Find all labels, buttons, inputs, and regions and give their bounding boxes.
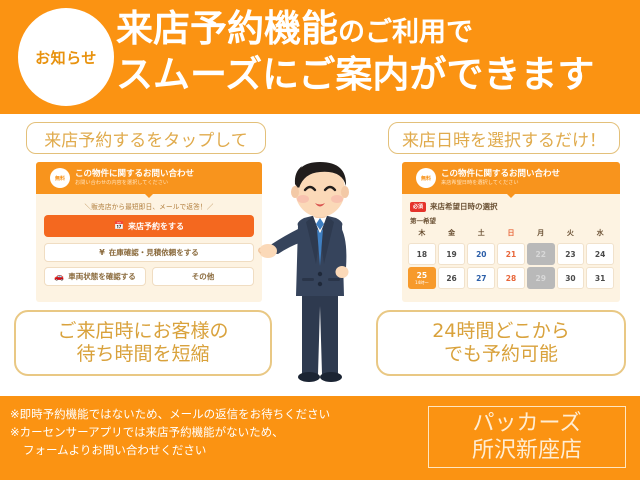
calendar-day-number: 29 (535, 274, 545, 283)
yen-icon: ¥ (99, 249, 105, 257)
benefit-right-line-1: 24時間どこから (432, 320, 570, 343)
calendar-day-cell[interactable]: 2514時〜 (408, 267, 436, 289)
left-callout-pill: 来店予約するをタップして (26, 122, 266, 154)
calendar-day-cell[interactable]: 26 (438, 267, 466, 289)
calendar-grid[interactable]: 木金土日月火水181920212223242514時〜262728293031 (402, 227, 620, 289)
speech-notch-icon (144, 193, 154, 198)
right-callout-pill: 来店日時を選択するだけ！ (388, 122, 620, 154)
left-callout-label: 来店予約するをタップして (44, 126, 248, 151)
calendar-day-time: 14時〜 (415, 281, 429, 286)
calendar-weekday-日: 日 (497, 227, 525, 241)
calendar-day-cell[interactable]: 20 (467, 243, 495, 265)
banner-footer: ※即時予約機能ではないため、メールの返信をお待ちください ※カーセンサーアプリで… (0, 396, 640, 480)
left-mock-title: この物件に関するお問い合わせ (75, 169, 194, 180)
disclaimer-line-2: ※カーセンサーアプリでは来店予約機能がないため、 (10, 424, 410, 442)
headline-line-2: スムーズにご案内ができます (116, 47, 636, 93)
calendar-day-cell: 29 (527, 267, 555, 289)
benefit-left-line-1: ご来店時にお客様の (57, 320, 228, 343)
calendar-day-number: 22 (535, 250, 545, 259)
calendar-icon: 📅 (114, 222, 124, 230)
calendar-day-cell[interactable]: 28 (497, 267, 525, 289)
calendar-day-number: 23 (565, 250, 575, 259)
banner-header: お知らせ 来店予約機能のご利用で スムーズにご案内ができます (0, 0, 640, 114)
shop-name-line-2: 所沢新座店 (472, 437, 582, 465)
disclaimer-line-1: ※即時予約機能ではないため、メールの返信をお待ちください (10, 406, 410, 424)
left-mock-subtitle: お問い合わせの内容を選択してください (75, 180, 194, 187)
calendar-day-number: 31 (595, 274, 605, 283)
notice-badge-label: お知らせ (35, 47, 97, 68)
calendar-day-cell[interactable]: 30 (557, 267, 585, 289)
calendar-day-number: 20 (476, 250, 486, 259)
calendar-day-number: 18 (417, 250, 427, 259)
left-mock-header: 無料 この物件に関するお問い合わせ お問い合わせの内容を選択してください (36, 162, 262, 194)
calendar-day-number: 21 (506, 250, 516, 259)
car-icon: 🚗 (54, 273, 64, 281)
calendar-weekday-火: 火 (557, 227, 585, 241)
other-label: その他 (192, 271, 215, 282)
calendar-day-cell[interactable]: 24 (586, 243, 614, 265)
right-mock-header: 無料 この物件に関するお問い合わせ 来店希望日時を選択してください (402, 162, 620, 194)
vehicle-condition-button[interactable]: 🚗 車両状態を確認する (44, 267, 146, 286)
speech-notch-icon (506, 193, 516, 198)
free-badge-label: 無料 (421, 175, 431, 182)
stock-quote-button[interactable]: ¥ 在庫確認・見積依頼をする (44, 243, 254, 262)
calendar-day-number: 19 (446, 250, 456, 259)
right-callout-label: 来店日時を選択するだけ！ (402, 126, 606, 151)
free-badge-icon: 無料 (50, 168, 70, 188)
calendar-day-number: 27 (476, 274, 486, 283)
calendar-weekday-金: 金 (438, 227, 466, 241)
benefit-box-left: ご来店時にお客様の 待ち時間を短縮 (14, 310, 272, 376)
shop-name-box: パッカーズ 所沢新座店 (428, 406, 626, 468)
stock-quote-label: 在庫確認・見積依頼をする (109, 247, 199, 258)
calendar-day-number: 30 (565, 274, 575, 283)
vehicle-condition-label: 車両状態を確認する (68, 271, 136, 282)
benefit-left-line-2: 待ち時間を短縮 (76, 343, 209, 366)
calendar-day-cell[interactable]: 23 (557, 243, 585, 265)
advertisement-banner: お知らせ 来店予約機能のご利用で スムーズにご案内ができます 来店予約するをタッ… (0, 0, 640, 480)
calendar-weekday-水: 水 (586, 227, 614, 241)
headline-emphasis: 来店予約機能 (116, 7, 338, 50)
headline-line-1: 来店予約機能のご利用で (116, 6, 636, 47)
calendar-day-cell[interactable]: 19 (438, 243, 466, 265)
left-app-mockup: 無料 この物件に関するお問い合わせ お問い合わせの内容を選択してください ＼販売… (36, 162, 262, 302)
banner-body: 来店予約するをタップして 来店日時を選択するだけ！ 無料 この物件に関するお問い… (0, 114, 640, 396)
calendar-day-cell[interactable]: 31 (586, 267, 614, 289)
right-app-mockup: 無料 この物件に関するお問い合わせ 来店希望日時を選択してください 必須 来店希… (402, 162, 620, 302)
calendar-day-cell[interactable]: 27 (467, 267, 495, 289)
other-button[interactable]: その他 (152, 267, 254, 286)
reserve-visit-button[interactable]: 📅 来店予約をする (44, 215, 254, 237)
calendar-weekday-土: 土 (467, 227, 495, 241)
disclaimer-line-3: フォームよりお問い合わせください (10, 442, 410, 460)
calendar-day-number: 26 (446, 274, 456, 283)
calendar-day-number: 28 (506, 274, 516, 283)
required-badge: 必須 (410, 202, 426, 212)
header-headline: 来店予約機能のご利用で スムーズにご案内ができます (116, 6, 636, 93)
calendar-day-cell[interactable]: 18 (408, 243, 436, 265)
calendar-choice-label: 第一希望 (402, 214, 620, 227)
benefit-right-line-2: でも予約可能 (444, 343, 558, 366)
disclaimer-text: ※即時予約機能ではないため、メールの返信をお待ちください ※カーセンサーアプリで… (10, 406, 410, 459)
reserve-visit-label: 来店予約をする (128, 221, 184, 232)
calendar-day-number: 24 (595, 250, 605, 259)
right-mock-subtitle: 来店希望日時を選択してください (441, 180, 560, 187)
shop-name-line-1: パッカーズ (473, 410, 582, 438)
notice-badge: お知らせ (18, 8, 114, 106)
headline-tail: のご利用で (338, 17, 473, 48)
calendar-day-cell[interactable]: 21 (497, 243, 525, 265)
free-badge-label: 無料 (55, 175, 65, 182)
calendar-day-cell: 22 (527, 243, 555, 265)
right-mock-title: この物件に関するお問い合わせ (441, 169, 560, 180)
free-badge-icon: 無料 (416, 168, 436, 188)
calendar-weekday-月: 月 (527, 227, 555, 241)
benefit-box-right: 24時間どこから でも予約可能 (376, 310, 626, 376)
salesman-svg (258, 156, 384, 396)
calendar-day-number: 25 (417, 271, 427, 280)
salesman-illustration (258, 156, 384, 396)
calendar-weekday-木: 木 (408, 227, 436, 241)
calendar-section-title: 来店希望日時の選択 (430, 201, 498, 212)
